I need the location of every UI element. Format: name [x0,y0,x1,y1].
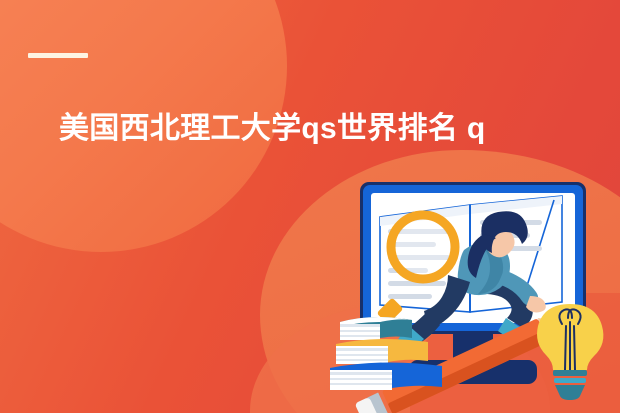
banner-root: 美国西北理工大学qs世界排名 q [0,0,620,413]
lightbulb-icon [537,304,603,400]
page-title: 美国西北理工大学qs世界排名 q [59,110,485,148]
student-research-illustration [322,172,620,413]
title-accent-rule [28,53,88,58]
